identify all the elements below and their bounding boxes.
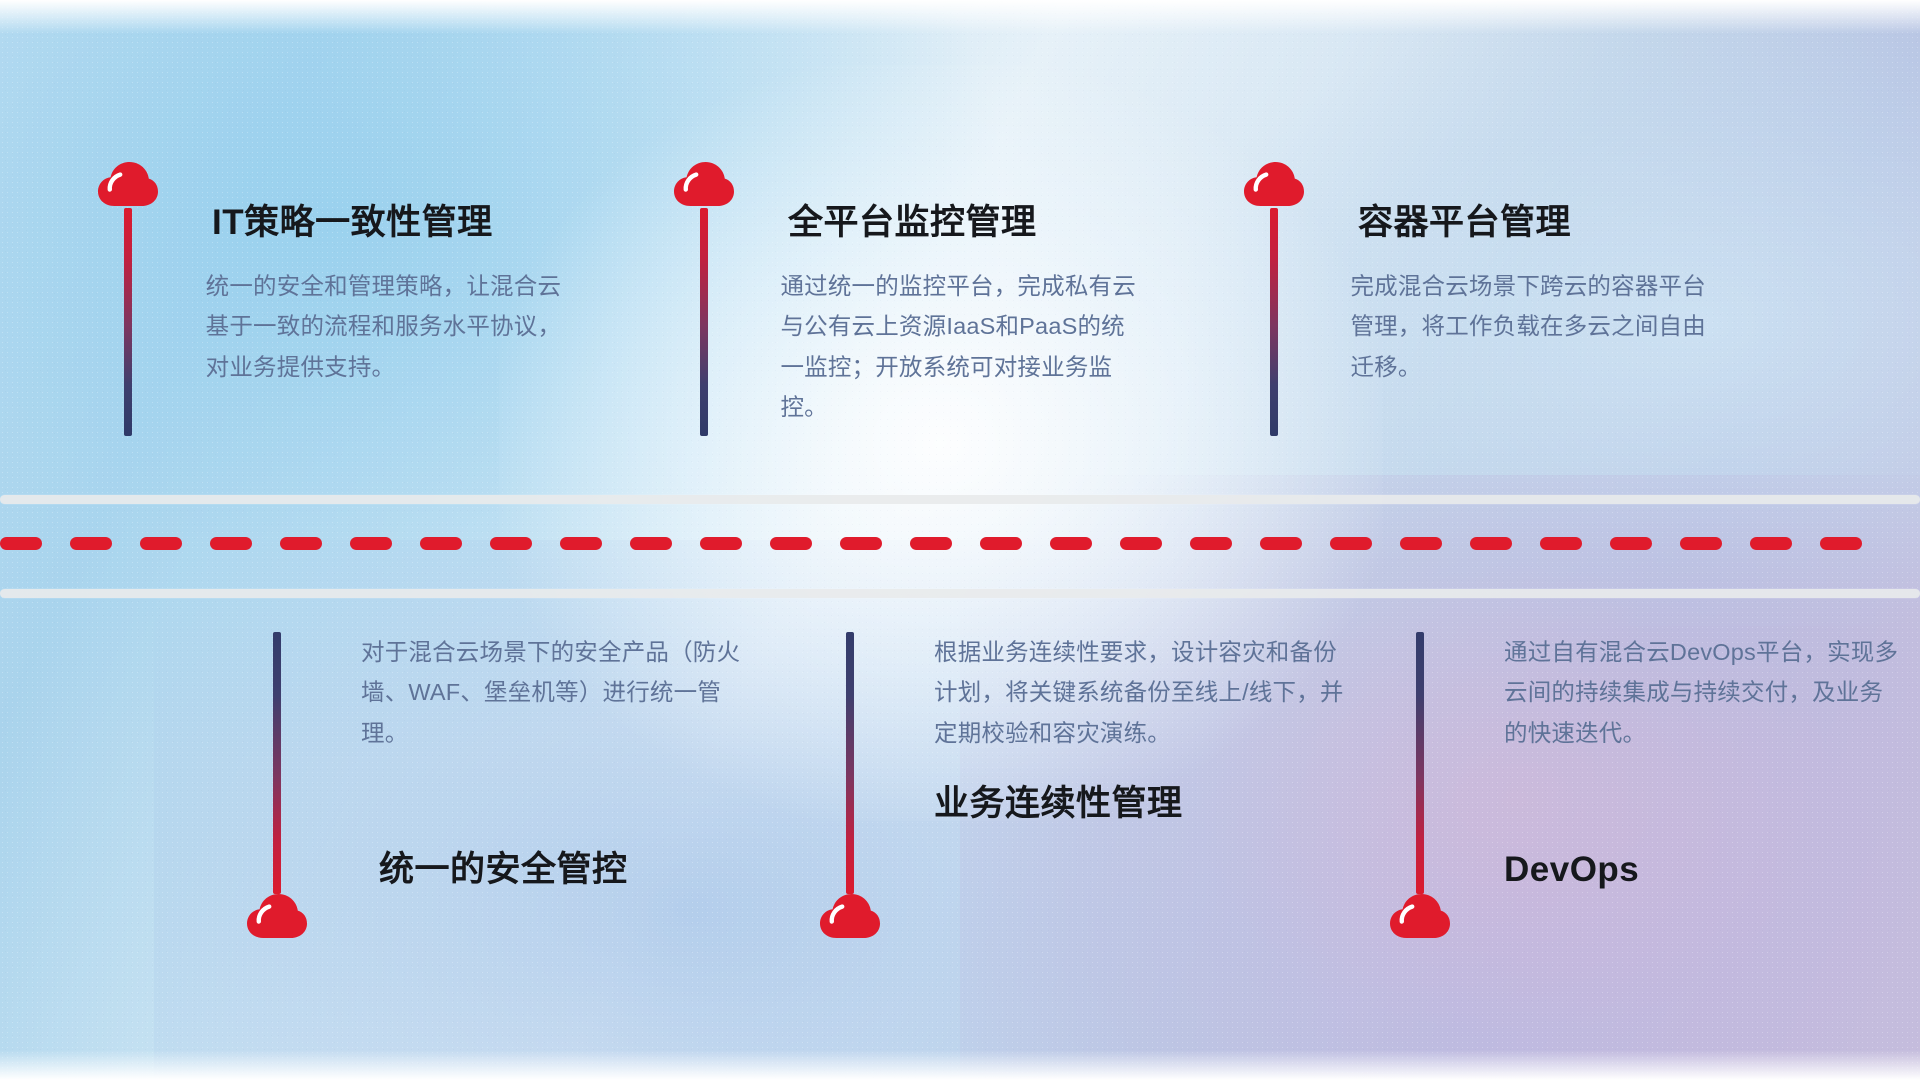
divider-dash xyxy=(1470,537,1512,550)
top-item-3-body-row: 完成混合云场景下跨云的容器平台管理，将工作负载在多云之间自由迁移。 xyxy=(1242,252,1712,387)
cloud-icon xyxy=(1242,160,1306,208)
bottom-item-1-body: 对于混合云场景下的安全产品（防火墙、WAF、堡垒机等）进行统一管理。 xyxy=(361,632,761,753)
divider-dash xyxy=(1120,537,1162,550)
bottom-item-1-heading: 统一的安全管控 xyxy=(379,849,761,891)
cloud-icon xyxy=(818,892,882,940)
divider-dash xyxy=(1400,537,1442,550)
cloud-icon xyxy=(96,160,160,208)
divider-dash xyxy=(840,537,882,550)
top-item-1-body-row: 统一的安全和管理策略，让混合云基于一致的流程和服务水平协议，对业务提供支持。 xyxy=(96,252,566,387)
bottom-item-2-heading: 业务连续性管理 xyxy=(934,783,1344,825)
divider-dash xyxy=(70,537,112,550)
bottom-item-3: 通过自有混合云DevOps平台，实现多云间的持续集成与持续交付，及业务的快速迭代… xyxy=(1388,632,1858,940)
divider-dash xyxy=(1820,537,1862,550)
divider-dash xyxy=(0,537,42,550)
top-item-3-body: 完成混合云场景下跨云的容器平台管理，将工作负载在多云之间自由迁移。 xyxy=(1350,266,1712,387)
divider-dash xyxy=(210,537,252,550)
divider-dash xyxy=(420,537,462,550)
top-item-2-body-row: 通过统一的监控平台，完成私有云与公有云上资源IaaS和PaaS的统一监控；开放系… xyxy=(672,252,1142,428)
top-item-3: 容器平台管理 完成混合云场景下跨云的容器平台管理，将工作负载在多云之间自由迁移。 xyxy=(1242,160,1712,387)
top-item-3-heading: 容器平台管理 xyxy=(1358,202,1571,244)
top-item-2-heading: 全平台监控管理 xyxy=(788,202,1037,244)
top-item-2: 全平台监控管理 通过统一的监控平台，完成私有云与公有云上资源IaaS和PaaS的… xyxy=(672,160,1142,428)
top-item-1-heading: IT策略一致性管理 xyxy=(212,202,493,244)
bottom-item-3-stem xyxy=(1416,632,1424,894)
divider-dash xyxy=(770,537,812,550)
bottom-item-2-stem xyxy=(846,632,854,894)
background-fade-bottom xyxy=(0,1050,1920,1080)
top-item-2-body: 通过统一的监控平台，完成私有云与公有云上资源IaaS和PaaS的统一监控；开放系… xyxy=(780,266,1142,428)
infographic-canvas: IT策略一致性管理 统一的安全和管理策略，让混合云基于一致的流程和服务水平协议，… xyxy=(0,0,1920,1080)
divider-dash xyxy=(630,537,672,550)
background-fade-top xyxy=(0,0,1920,34)
divider-dash xyxy=(1610,537,1652,550)
cloud-icon xyxy=(1388,892,1452,940)
divider-dash xyxy=(490,537,532,550)
divider-dash xyxy=(1680,537,1722,550)
bottom-item-3-body: 通过自有混合云DevOps平台，实现多云间的持续集成与持续交付，及业务的快速迭代… xyxy=(1504,632,1904,753)
divider-rail-top xyxy=(0,495,1920,504)
divider-dash xyxy=(1330,537,1372,550)
bottom-item-2-body: 根据业务连续性要求，设计容灾和备份计划，将关键系统备份至线上/线下，并定期校验和… xyxy=(934,632,1344,753)
bottom-item-1-body-row: 对于混合云场景下的安全产品（防火墙、WAF、堡垒机等）进行统一管理。 统一的安全… xyxy=(245,632,715,940)
cloud-icon xyxy=(672,160,736,208)
divider-dash xyxy=(700,537,742,550)
bottom-item-1: 对于混合云场景下的安全产品（防火墙、WAF、堡垒机等）进行统一管理。 统一的安全… xyxy=(245,632,715,940)
bottom-item-2-body-row: 根据业务连续性要求，设计容灾和备份计划，将关键系统备份至线上/线下，并定期校验和… xyxy=(818,632,1288,940)
divider-dashed-line xyxy=(0,537,1920,550)
bottom-item-1-stem xyxy=(273,632,281,894)
center-road-divider xyxy=(0,489,1920,601)
top-item-1: IT策略一致性管理 统一的安全和管理策略，让混合云基于一致的流程和服务水平协议，… xyxy=(96,160,566,387)
divider-dash xyxy=(910,537,952,550)
divider-dash xyxy=(560,537,602,550)
divider-dash xyxy=(1190,537,1232,550)
top-item-1-body: 统一的安全和管理策略，让混合云基于一致的流程和服务水平协议，对业务提供支持。 xyxy=(206,266,566,387)
divider-rail-bottom xyxy=(0,589,1920,598)
divider-dash xyxy=(1050,537,1092,550)
divider-dash xyxy=(1540,537,1582,550)
bottom-item-3-body-row: 通过自有混合云DevOps平台，实现多云间的持续集成与持续交付，及业务的快速迭代… xyxy=(1388,632,1858,940)
bottom-item-3-heading: DevOps xyxy=(1504,849,1904,891)
divider-dash xyxy=(280,537,322,550)
bottom-item-2: 根据业务连续性要求，设计容灾和备份计划，将关键系统备份至线上/线下，并定期校验和… xyxy=(818,632,1288,940)
divider-dash xyxy=(140,537,182,550)
divider-dash xyxy=(980,537,1022,550)
cloud-icon xyxy=(245,892,309,940)
divider-dash xyxy=(350,537,392,550)
divider-dash xyxy=(1260,537,1302,550)
divider-dash xyxy=(1750,537,1792,550)
